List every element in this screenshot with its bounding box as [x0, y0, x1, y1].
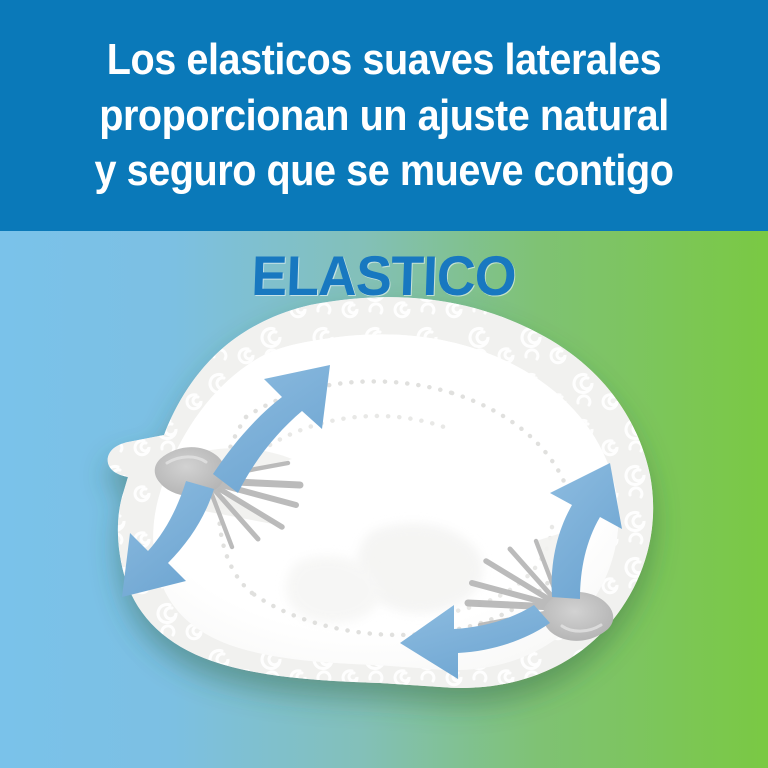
headline-text: Los elasticos suaves laterales proporcio…: [55, 32, 714, 198]
headline-line-1: Los elasticos suaves laterales: [55, 32, 714, 87]
headline-banner: Los elasticos suaves laterales proporcio…: [0, 0, 768, 231]
headline-line-2: proporcionan un ajuste natural: [55, 88, 714, 143]
product-illustration: [0, 231, 768, 768]
promo-poster: Los elasticos suaves laterales proporcio…: [0, 0, 768, 768]
product-stage: [0, 231, 768, 768]
headline-line-3: y seguro que se mueve contigo: [55, 143, 714, 198]
